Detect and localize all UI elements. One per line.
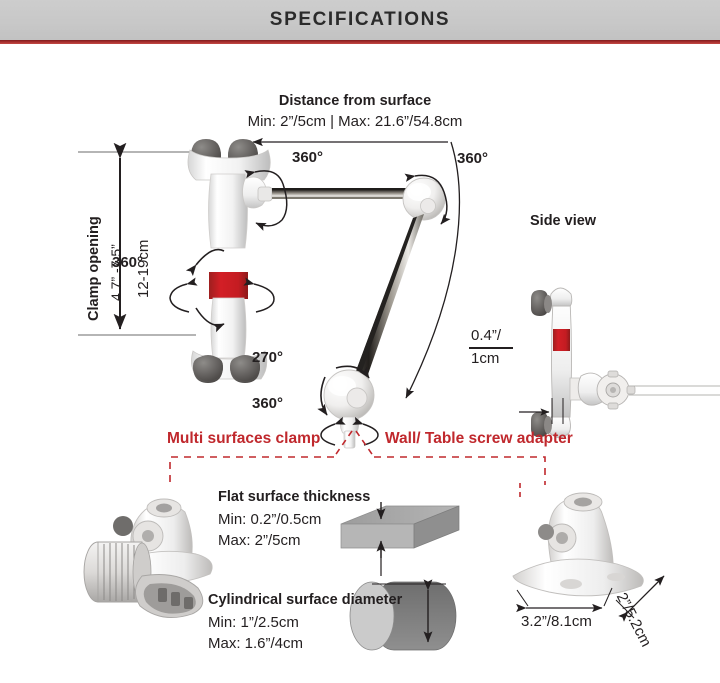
distance-range: Min: 2”/5cm | Max: 21.6”/54.8cm [222,113,488,130]
wall-adapter-width: 3.2”/8.1cm [521,613,592,630]
callout-clamp-label: Multi surfaces clamp [167,430,320,448]
cylindrical-surface-min: Min: 1”/2.5cm [208,614,299,631]
bottom-details: Flat surface thickness Min: 0.2”/0.5cm M… [0,480,720,683]
flat-surface-min: Min: 0.2”/0.5cm [218,511,321,528]
side-view-thickness-inches: 0.4”/ [471,327,501,344]
arm-diagram: Distance from surface Min: 2”/5cm | Max:… [0,46,720,446]
clamp-opening-inches: 4.7” -7.5” [108,244,124,301]
side-view-fraction-rule [469,347,513,349]
header-rule [0,40,720,44]
clamp-opening-title: Clamp opening [86,216,103,321]
bottom-details-svg [0,480,720,683]
rotation-head-tilt: 270° [252,349,283,366]
cylindrical-surface-max: Max: 1.6”/4cm [208,635,303,652]
callout-row: Multi surfaces clamp Wall/ Table screw a… [0,425,720,485]
clamp-opening-cm: 12-19cm [135,240,152,298]
flat-surface-title: Flat surface thickness [218,489,370,506]
callout-connector-svg [0,425,720,485]
cylindrical-surface-title: Cylindrical surface diameter [208,592,402,609]
distance-title: Distance from surface [245,93,465,110]
side-view-title: Side view [530,213,596,230]
rotation-elbow-joint: 360° [457,150,488,167]
flat-surface-box [341,502,459,576]
clamp-illustration [84,499,212,618]
side-view-thickness-cm: 1cm [471,350,499,367]
specifications-page: SPECIFICATIONS [0,0,720,683]
lower-arm [353,214,424,383]
elbow-joint [403,178,445,220]
flat-surface-max: Max: 2”/5cm [218,532,301,549]
header-bar: SPECIFICATIONS [0,0,720,40]
rotation-head-spin: 360° [252,395,283,412]
wall-adapter-illustration [513,483,664,618]
rotation-top-joint: 360° [292,149,323,166]
clamp-post-assembly [188,139,272,383]
callout-adapter-label: Wall/ Table screw adapter [385,430,573,448]
side-view-figure [519,288,720,438]
upper-arm [272,188,418,199]
page-title: SPECIFICATIONS [270,9,450,31]
